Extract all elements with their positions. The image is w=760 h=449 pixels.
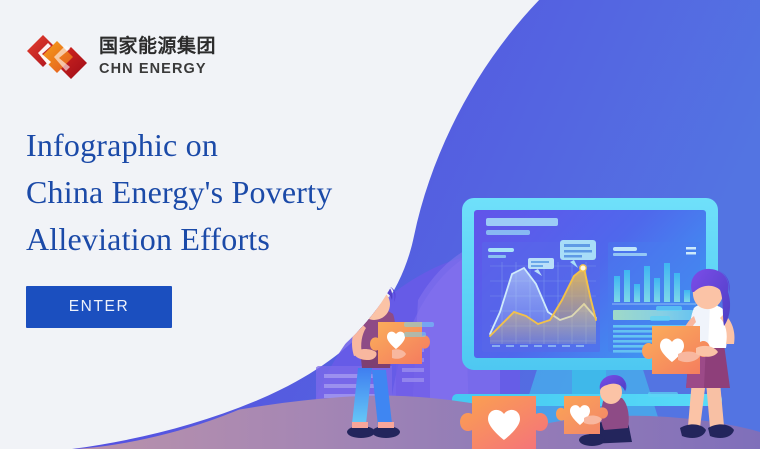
chart-peak-marker [580, 265, 586, 271]
bar-1 [614, 276, 620, 302]
bar-panel-label-2 [613, 253, 647, 256]
bar-3 [634, 284, 640, 302]
bar-5 [654, 278, 660, 302]
enter-button[interactable]: ENTER [26, 286, 172, 328]
bar-8 [684, 290, 690, 302]
chart-panel-label-2 [488, 255, 506, 258]
bar-6 [664, 263, 670, 302]
brand-lockup: 国家能源集团 CHN ENERGY [26, 33, 216, 81]
brand-name-cn: 国家能源集团 [99, 36, 216, 58]
page-title: Infographic on China Energy's Poverty Al… [26, 122, 332, 263]
chart-panel-label-1 [488, 248, 514, 252]
brand-name-en: CHN ENERGY [99, 60, 216, 79]
page-title-line-3: Alleviation Efforts [26, 216, 332, 263]
bar-7 [674, 273, 680, 302]
infographic-cover-page: 国家能源集团 CHN ENERGY Infographic on China E… [0, 0, 760, 449]
shoe-kneeling [579, 434, 605, 446]
area-line-chart-panel [482, 240, 600, 352]
bar-2 [624, 270, 630, 302]
bar-panel-menu-2 [686, 252, 696, 255]
chn-energy-diamond-logo-icon [26, 33, 88, 81]
screen-header-bar-1 [486, 218, 558, 226]
bar-panel-label-1 [613, 247, 637, 251]
puzzle-piece-large-foreground [460, 396, 548, 449]
page-title-line-2: China Energy's Poverty [26, 169, 332, 216]
bar-4 [644, 266, 650, 302]
bar-panel-menu-1 [686, 247, 696, 250]
screen-header-bar-2 [486, 230, 530, 235]
page-title-line-1: Infographic on [26, 122, 332, 169]
